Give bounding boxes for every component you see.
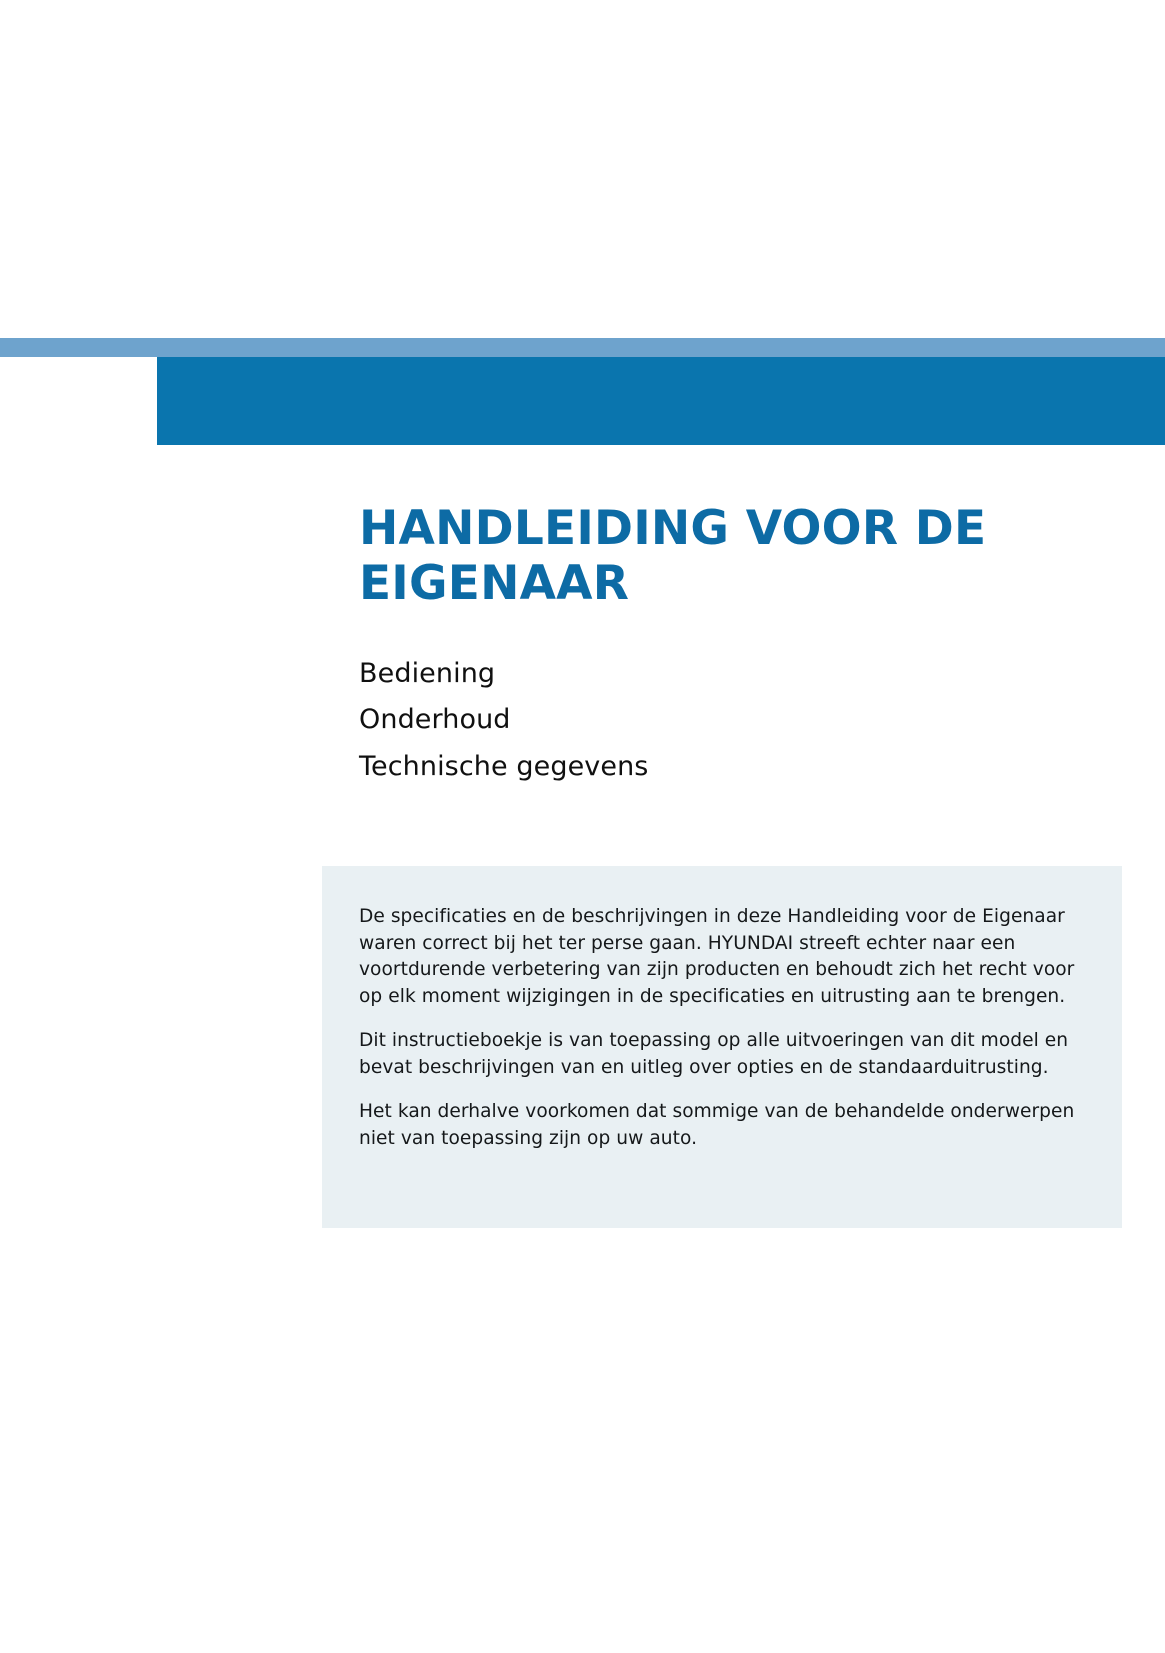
disclaimer-paragraph-1: De specificaties en de beschrijvingen in… xyxy=(359,904,1096,1010)
page-title: HANDLEIDING VOOR DE EIGENAAR xyxy=(359,501,1099,611)
disclaimer-panel: De specificaties en de beschrijvingen in… xyxy=(322,866,1122,1228)
disclaimer-paragraph-3: Het kan derhalve voorkomen dat sommige v… xyxy=(359,1099,1096,1152)
disclaimer-paragraph-2: Dit instructieboekje is van toepassing o… xyxy=(359,1028,1096,1081)
header-band-light xyxy=(0,338,1165,357)
subtitle-item-onderhoud: Onderhoud xyxy=(359,697,959,743)
header-band-dark xyxy=(157,357,1165,445)
subtitle-item-technische-gegevens: Technische gegevens xyxy=(359,744,959,790)
subtitle-item-bediening: Bediening xyxy=(359,651,959,697)
subtitle-list: Bediening Onderhoud Technische gegevens xyxy=(359,651,959,790)
title-block: HANDLEIDING VOOR DE EIGENAAR xyxy=(359,501,1099,611)
